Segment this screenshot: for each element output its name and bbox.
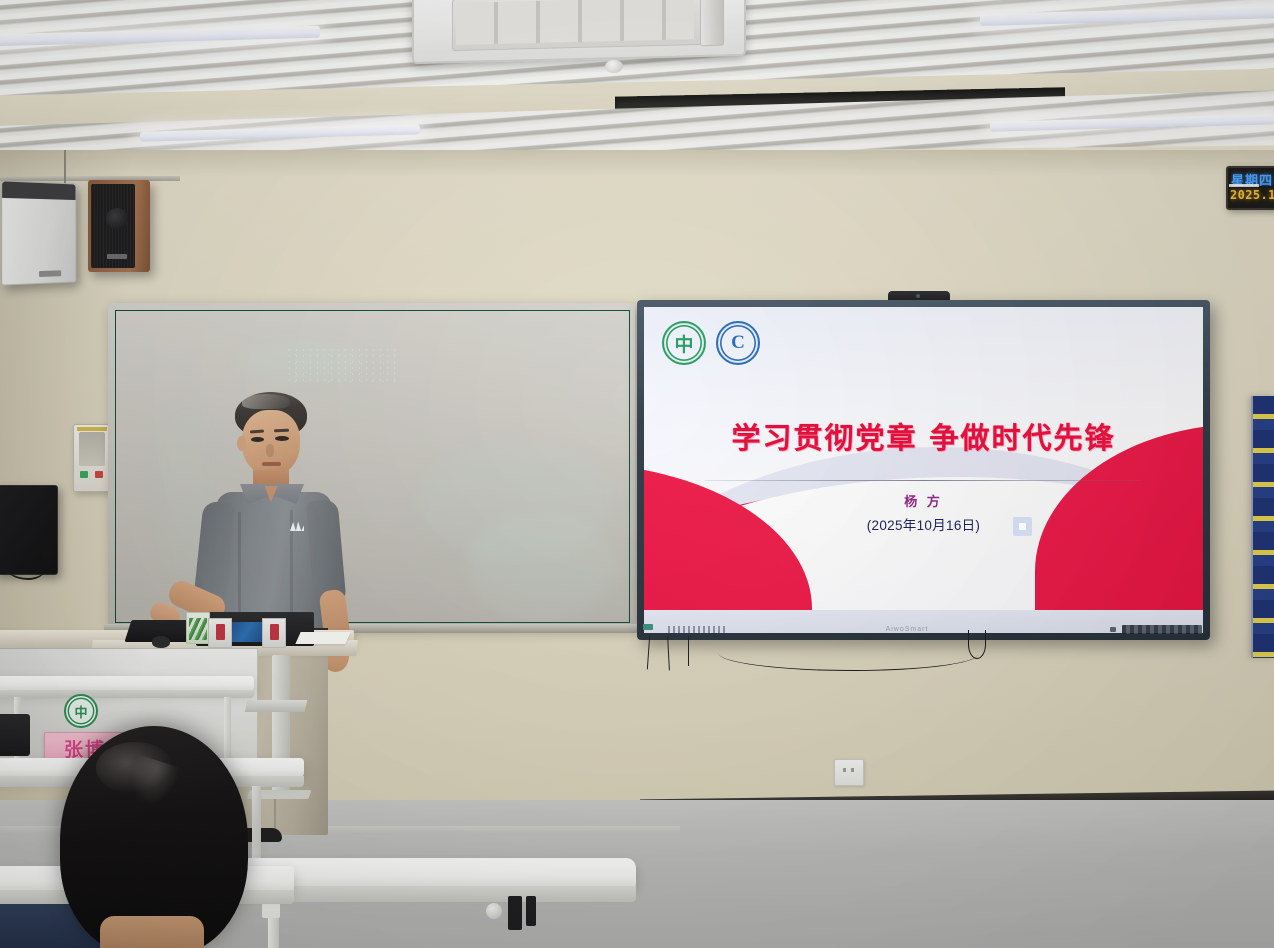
slide-title: 学习贯彻党章 争做时代先锋 (644, 415, 1203, 457)
wall-speaker-gray (1, 180, 76, 285)
chalk-smudge (466, 511, 616, 621)
foreground-person-neck (100, 916, 204, 948)
slide-screen: 中 C 学习贯彻党章 争做时代先锋 杨 方 (2025年10月16日) (644, 307, 1203, 633)
display-cable (667, 636, 684, 671)
ac-vent-louvers (456, 0, 694, 45)
person-eye-left (251, 437, 264, 442)
slide-divider (705, 480, 1141, 481)
desk-edge (0, 690, 254, 698)
desk-leg (252, 786, 261, 866)
desk-item-box-right (262, 618, 286, 648)
person-nose (266, 444, 274, 457)
desk-item-box-left (208, 618, 232, 648)
control-panel-screen (79, 432, 105, 466)
chalk-dust-speckles (286, 347, 396, 383)
ac-side-vent (700, 0, 724, 46)
speaker-logo (107, 254, 127, 259)
person-eye-right (275, 436, 289, 441)
person-eyebrow-right (274, 429, 289, 433)
person-face (242, 410, 300, 476)
led-wall-clock: 星期四 2025.10.16 (1226, 166, 1274, 210)
wall-upper-trim (0, 150, 1274, 176)
interactive-smart-board[interactable]: 中 C 学习贯彻党章 争做时代先锋 杨 方 (2025年10月16日) (637, 300, 1210, 640)
control-panel-label (77, 427, 107, 431)
speaker-wire (64, 150, 66, 186)
desk-bracket (508, 896, 522, 930)
slide-date: (2025年10月16日) (644, 514, 1203, 534)
speaker-grille (91, 184, 135, 268)
desk-item-green-box (186, 612, 210, 644)
speaker-badge (39, 270, 61, 277)
wall-outlet[interactable] (834, 759, 864, 786)
desk-leg (224, 697, 231, 763)
led-clock-glare (1229, 184, 1259, 187)
classroom-photo-scene: 中 C 学习贯彻党章 争做时代先锋 杨 方 (2025年10月16日) Aiwo… (0, 0, 1274, 948)
desk-adjust-knob[interactable] (486, 903, 502, 919)
person-mouth (262, 462, 281, 466)
speaker-top-cap (2, 181, 75, 200)
camera-lens-icon (916, 294, 920, 298)
speaker-cone (106, 208, 128, 230)
slide-placeholder-icon (1013, 517, 1032, 536)
classroom-chair (0, 714, 30, 756)
led-clock-date: 2025.10.16 (1230, 188, 1274, 204)
display-cable (647, 635, 666, 670)
computer-mouse[interactable] (152, 636, 170, 648)
shirt-fold (238, 512, 241, 622)
wall-control-panel[interactable] (73, 424, 111, 492)
wall-banner (1251, 396, 1274, 658)
person-hair-highlight (242, 394, 290, 409)
person-ear (237, 436, 246, 451)
classroom-desk (0, 676, 254, 691)
status-led-red (95, 471, 103, 478)
wall-speaker-wood (88, 180, 150, 272)
display-cable-tail (968, 630, 986, 659)
slide-presenter-name: 杨 方 (644, 491, 1203, 510)
name-card-logo-icon: 中 (64, 694, 98, 728)
status-led-green (80, 471, 88, 478)
display-cable (688, 636, 701, 666)
lectern-support (245, 700, 308, 712)
desk-papers (295, 632, 350, 644)
desk-bracket (526, 896, 536, 926)
slide-content: 学习贯彻党章 争做时代先锋 杨 方 (2025年10月16日) (644, 307, 1203, 633)
